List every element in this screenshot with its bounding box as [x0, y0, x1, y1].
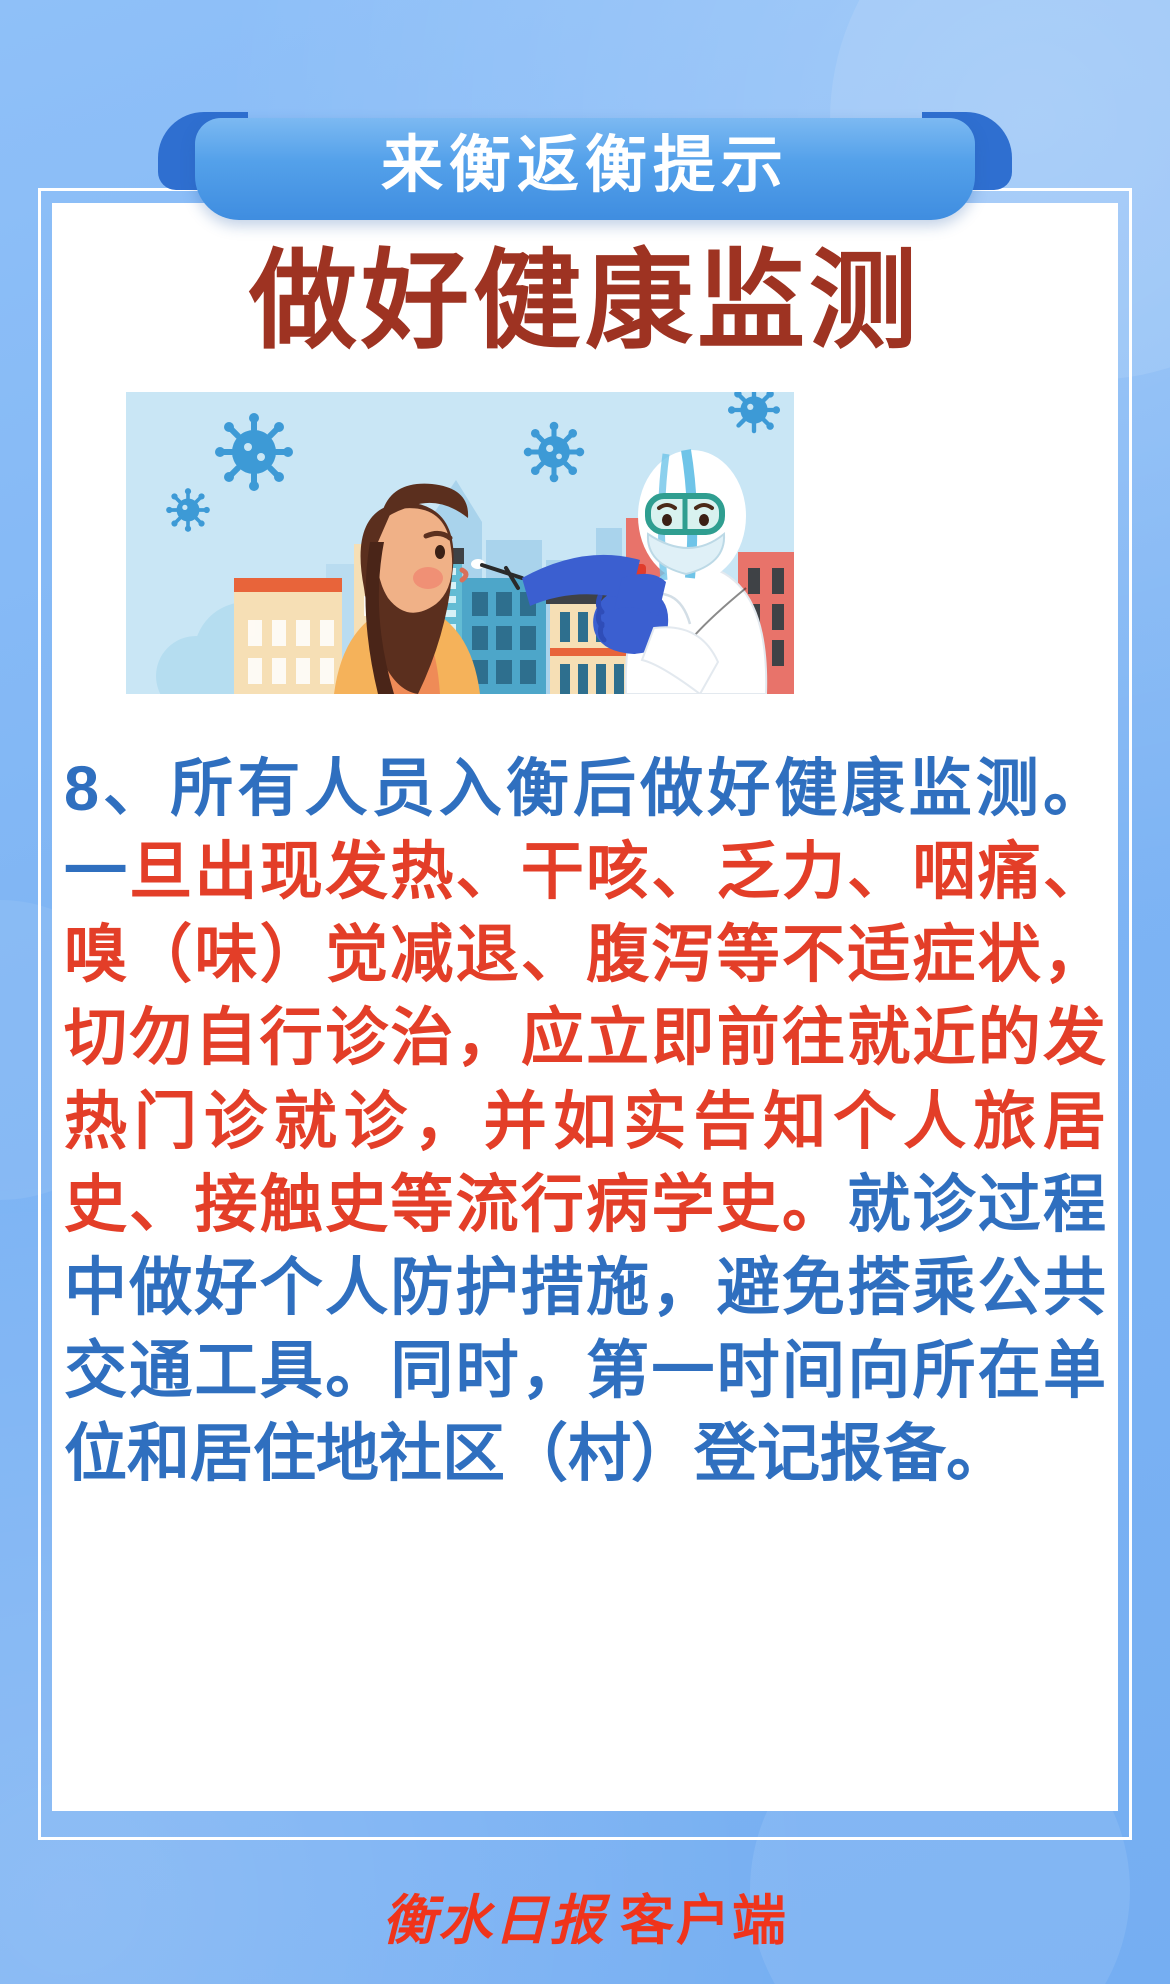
poster-root: 来衡返衡提示 做好健康监测	[0, 0, 1170, 1984]
body-paragraph: 8、所有人员入衡后做好健康监测。一旦出现发热、干咳、乏力、咽痛、嗅（味）觉减退、…	[64, 748, 1106, 1496]
brand-name: 衡水日报	[382, 1888, 606, 1952]
brand-suffix: 客户端	[620, 1891, 788, 1951]
illustration	[126, 392, 794, 694]
ribbon-fold-right	[922, 112, 1012, 190]
footer-brand: 衡水日报客户端	[0, 1876, 1170, 1955]
illustration-svg	[126, 392, 794, 694]
ribbon-title: 来衡返衡提示	[381, 135, 789, 203]
page-title: 做好健康监测	[0, 244, 1170, 357]
ribbon-fold-left	[158, 112, 248, 190]
